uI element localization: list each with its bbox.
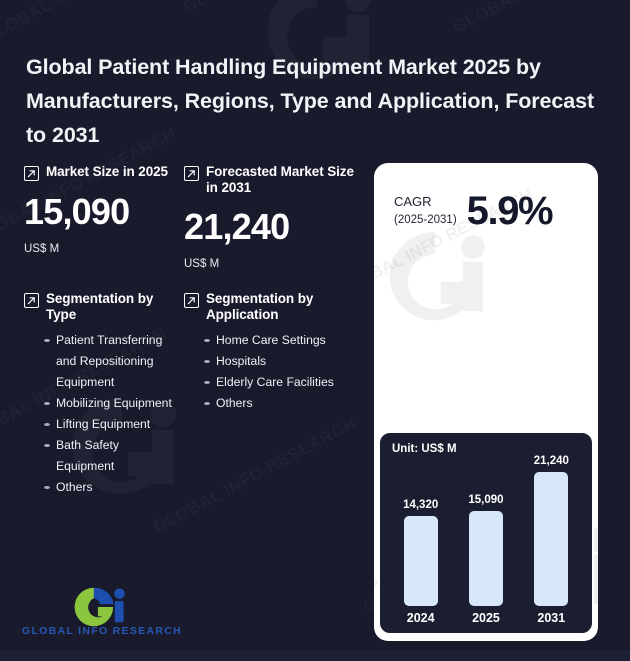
- segmentation-header: Segmentation by Type: [24, 291, 174, 323]
- list-item: Elderly Care Facilities: [204, 372, 359, 393]
- bar-value-label: 14,320: [403, 499, 438, 511]
- arrow-up-right-icon: [184, 293, 199, 308]
- bullet-icon: [204, 402, 210, 405]
- bar-column: 14,320 2024: [393, 499, 449, 625]
- bottom-strip: [0, 650, 630, 661]
- gi-logo-icon: [56, 586, 134, 628]
- bullet-icon: [204, 360, 210, 363]
- list-item-label: Lifting Equipment: [56, 414, 150, 435]
- list-item: Bath Safety Equipment: [44, 435, 174, 477]
- chart-plot-area: 14,320 2024 15,090 2025 21,240 2031: [388, 467, 584, 625]
- bar-category-label: 2031: [537, 611, 565, 625]
- panel-gi-logo-icon: [378, 225, 498, 335]
- bullet-icon: [44, 402, 50, 405]
- segmentation-list: Home Care Settings Hospitals Elderly Car…: [184, 330, 359, 414]
- list-item-label: Bath Safety Equipment: [56, 435, 174, 477]
- infographic-root: GLOBAL INFO RESEARCH GLOBAL INFO RESEARC…: [0, 0, 630, 661]
- list-item: Home Care Settings: [204, 330, 359, 351]
- segmentation-by-type: Segmentation by Type Patient Transferrin…: [24, 291, 174, 498]
- bar-column: 15,090 2025: [458, 494, 514, 625]
- bullet-icon: [44, 444, 50, 447]
- background-watermark-text: GLOBAL INFO RESEARCH: [0, 0, 190, 48]
- arrow-up-right-icon: [24, 293, 39, 308]
- stat-header: Forecasted Market Size in 2031: [184, 164, 359, 196]
- bullet-icon: [44, 486, 50, 489]
- bar-category-label: 2024: [407, 611, 435, 625]
- list-item: Others: [204, 393, 359, 414]
- list-item-label: Hospitals: [216, 351, 266, 372]
- bar-value-label: 21,240: [534, 455, 569, 467]
- list-item: Others: [44, 477, 174, 498]
- bar-category-label: 2025: [472, 611, 500, 625]
- background-watermark-text: GLOBAL INFO RESEARCH: [150, 413, 360, 537]
- stat-forecast-market-size-2031: Forecasted Market Size in 2031 21,240 US…: [184, 164, 359, 270]
- cagr-period: (2025-2031): [394, 211, 457, 230]
- background-watermark-text: GLOBAL INFO RESEARCH: [180, 0, 390, 18]
- arrow-up-right-icon: [184, 166, 199, 181]
- segmentation-header: Segmentation by Application: [184, 291, 359, 323]
- list-item-label: Mobilizing Equipment: [56, 393, 172, 414]
- cagr-label-group: CAGR (2025-2031): [394, 192, 457, 230]
- list-item-label: Elderly Care Facilities: [216, 372, 334, 393]
- bullet-icon: [204, 381, 210, 384]
- stat-market-size-2025: Market Size in 2025 15,090 US$ M: [24, 164, 184, 255]
- stat-unit: US$ M: [24, 243, 184, 255]
- list-item-label: Others: [56, 477, 93, 498]
- stat-label: Market Size in 2025: [46, 164, 168, 180]
- stat-value: 21,240: [184, 207, 359, 247]
- list-item-label: Patient Transferring and Repositioning E…: [56, 330, 174, 393]
- list-item-label: Others: [216, 393, 253, 414]
- bar: [469, 511, 503, 606]
- segmentation-by-application: Segmentation by Application Home Care Se…: [184, 291, 359, 414]
- chart-unit-label: Unit: US$ M: [392, 443, 457, 455]
- segmentation-heading: Segmentation by Type: [46, 291, 174, 323]
- stat-label: Forecasted Market Size in 2031: [206, 164, 359, 196]
- list-item: Mobilizing Equipment: [44, 393, 174, 414]
- bullet-icon: [44, 423, 50, 426]
- list-item: Patient Transferring and Repositioning E…: [44, 330, 174, 393]
- bar-column: 21,240 2031: [523, 455, 579, 625]
- arrow-up-right-icon: [24, 166, 39, 181]
- bar: [404, 516, 438, 606]
- stat-unit: US$ M: [184, 258, 359, 270]
- market-size-bar-chart: Unit: US$ M 14,320 2024 15,090 2025 21,2…: [378, 431, 594, 635]
- cagr-value: 5.9%: [467, 189, 553, 233]
- cagr-label: CAGR: [394, 192, 457, 211]
- list-item: Lifting Equipment: [44, 414, 174, 435]
- stat-value: 15,090: [24, 192, 184, 232]
- bullet-icon: [204, 339, 210, 342]
- bullet-icon: [44, 339, 50, 342]
- segmentation-list: Patient Transferring and Repositioning E…: [24, 330, 174, 498]
- segmentation-heading: Segmentation by Application: [206, 291, 359, 323]
- background-watermark-text: GLOBAL INFO RESEARCH: [450, 0, 630, 38]
- list-item: Hospitals: [204, 351, 359, 372]
- bar-value-label: 15,090: [468, 494, 503, 506]
- logo-text: GLOBAL INFO RESEARCH: [22, 625, 182, 637]
- page-title: Global Patient Handling Equipment Market…: [26, 50, 614, 152]
- bar: [534, 472, 568, 606]
- cagr-row: CAGR (2025-2031) 5.9%: [394, 189, 552, 233]
- stat-header: Market Size in 2025: [24, 164, 184, 181]
- list-item-label: Home Care Settings: [216, 330, 326, 351]
